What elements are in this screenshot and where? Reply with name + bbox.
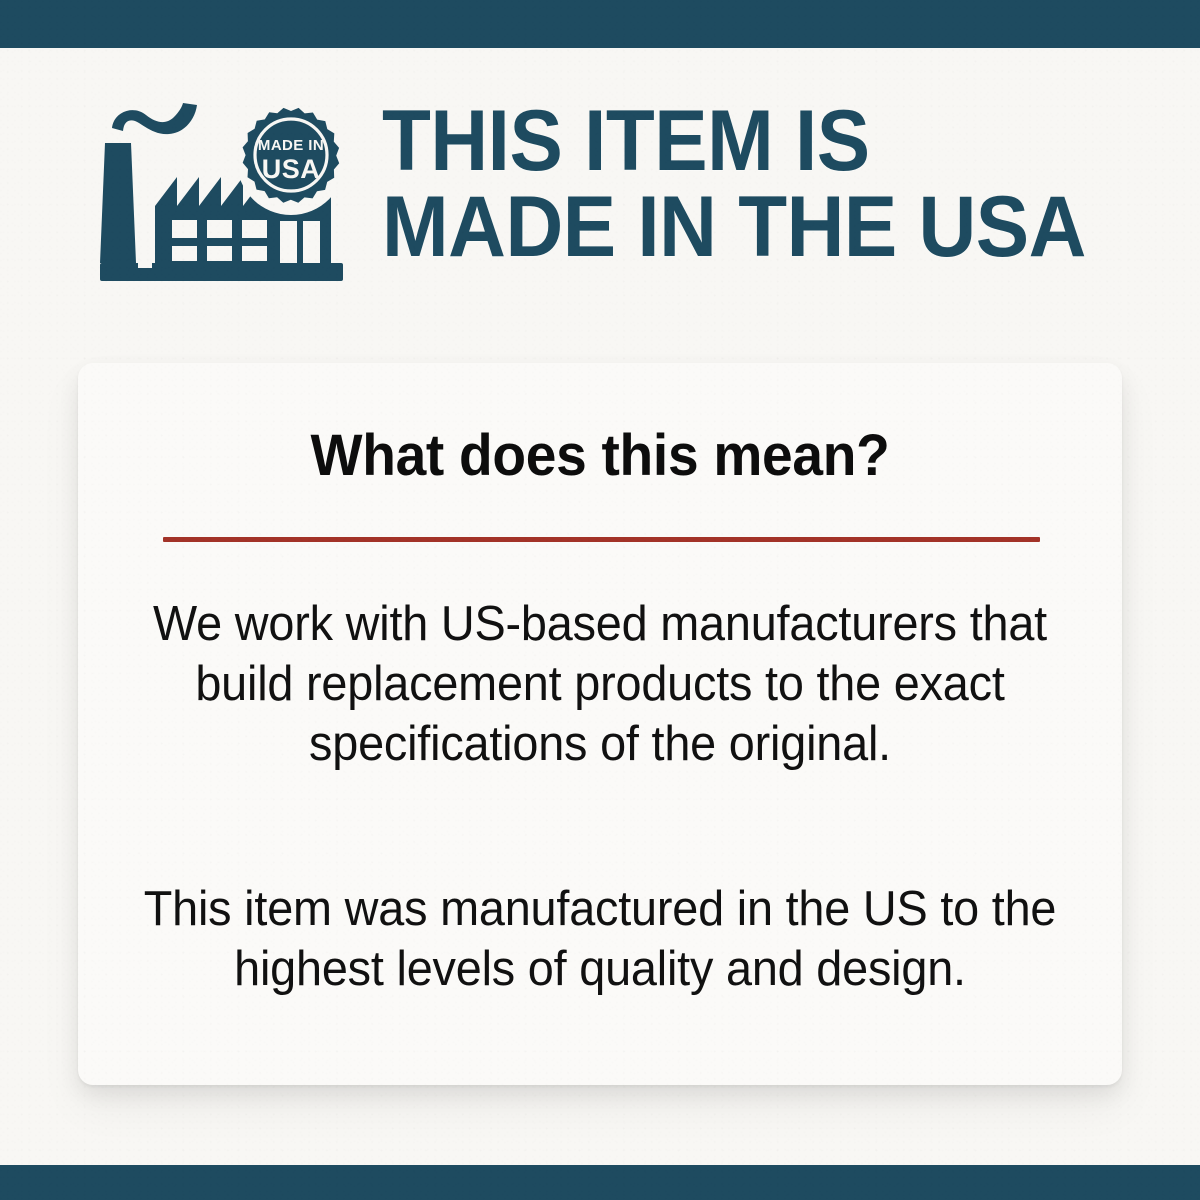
header: MADE IN USA THIS ITEM IS MADE IN THE USA bbox=[0, 48, 1200, 298]
made-in-usa-banner: MADE IN USA THIS ITEM IS MADE IN THE USA… bbox=[0, 0, 1200, 1200]
card-paragraph-1: We work with US-based manufacturers that… bbox=[115, 594, 1085, 774]
svg-text:MADE IN: MADE IN bbox=[258, 137, 324, 154]
card-paragraph-2: This item was manufactured in the US to … bbox=[115, 879, 1085, 999]
bottom-brand-bar bbox=[0, 1165, 1200, 1200]
svg-text:USA: USA bbox=[262, 154, 321, 184]
title-divider bbox=[163, 537, 1040, 542]
page-title: THIS ITEM IS MADE IN THE USA bbox=[382, 98, 1117, 270]
headline-line-1: THIS ITEM IS bbox=[382, 98, 1117, 184]
card-title: What does this mean? bbox=[104, 426, 1096, 486]
explanation-card: What does this mean? We work with US-bas… bbox=[78, 363, 1122, 1085]
headline-line-2: MADE IN THE USA bbox=[382, 184, 1117, 270]
top-brand-bar bbox=[0, 0, 1200, 48]
factory-icon: MADE IN USA bbox=[100, 103, 345, 288]
made-in-usa-seal-icon: MADE IN USA bbox=[237, 107, 345, 215]
